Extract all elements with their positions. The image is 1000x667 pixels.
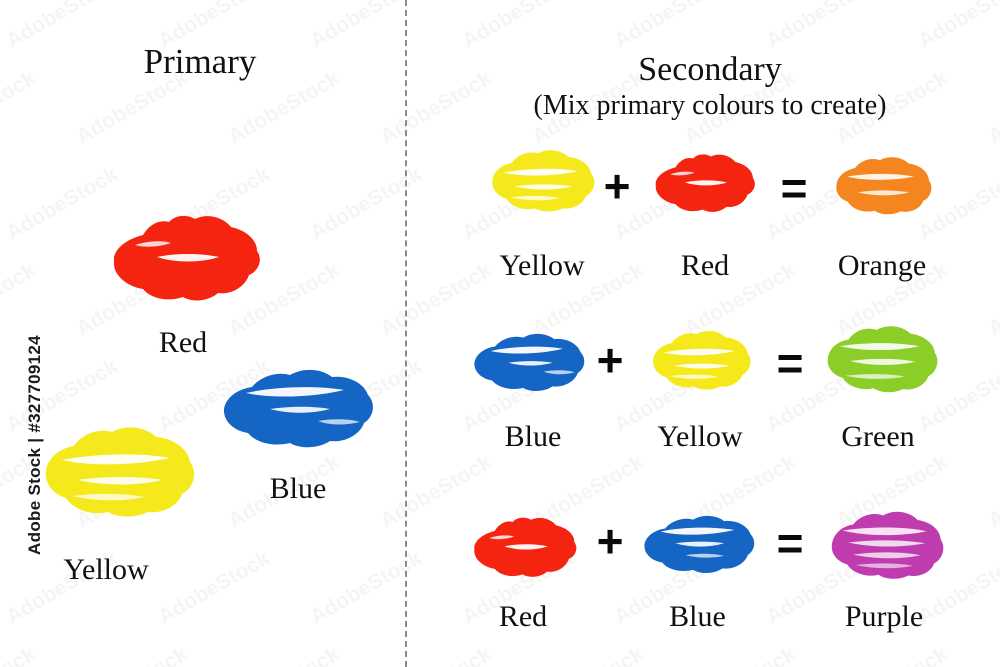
paint-stroke-red-icon <box>105 205 265 305</box>
watermark-text: AdobeStock <box>528 642 648 667</box>
mix-row-orange-label-b: Red <box>645 251 765 281</box>
mix-row-green-operand-b-swatch <box>648 316 753 402</box>
secondary-section-subtitle: (Mix primary colours to create) <box>420 90 1000 122</box>
primary-label-yellow: Yellow <box>26 555 186 585</box>
paint-stroke-blue-icon <box>640 508 758 580</box>
watermark-text: AdobeStock <box>224 642 344 667</box>
mix-row-green-result-swatch <box>822 314 940 402</box>
colour-mixing-poster: AdobeStockAdobeStockAdobeStockAdobeStock… <box>0 0 1000 667</box>
equals-operator-row-purple: = <box>768 520 812 566</box>
watermark-text: AdobeStock <box>832 642 952 667</box>
equals-operator-row-orange: = <box>772 165 816 211</box>
paint-stroke-red-icon <box>468 508 580 582</box>
watermark-text: AdobeStock <box>376 642 496 667</box>
primary-section-title: Primary <box>0 44 400 81</box>
adobe-stock-credit: Adobe Stock | #327709124 <box>25 325 45 565</box>
mix-row-green-label-b: Yellow <box>640 422 760 452</box>
primary-label-blue: Blue <box>218 474 378 504</box>
primary-swatch-blue <box>218 363 378 453</box>
paint-stroke-orange-icon <box>830 147 935 222</box>
paint-stroke-red-icon <box>648 147 760 215</box>
primary-swatch-yellow <box>38 420 198 520</box>
watermark-text: AdobeStock <box>680 642 800 667</box>
section-divider <box>405 0 407 667</box>
mix-row-purple-label-a: Red <box>468 602 578 632</box>
mix-row-green-operand-a-swatch <box>470 328 588 396</box>
mix-row-purple-operand-a-swatch <box>468 508 580 582</box>
mix-row-purple-result-swatch <box>826 503 946 585</box>
mix-row-purple-label-result: Purple <box>820 602 948 632</box>
paint-stroke-green-icon <box>822 314 940 402</box>
paint-stroke-blue-icon <box>470 328 588 396</box>
secondary-section-title: Secondary <box>420 52 1000 88</box>
mix-row-purple-label-b: Blue <box>640 602 755 632</box>
mix-row-orange-operand-b-swatch <box>648 147 760 215</box>
watermark-text: AdobeStock <box>72 642 192 667</box>
plus-operator-row-orange: + <box>595 163 639 209</box>
mix-row-orange-label-a: Yellow <box>482 251 602 281</box>
paint-stroke-yellow-icon <box>38 420 198 520</box>
paint-stroke-yellow-icon <box>487 142 597 217</box>
equals-operator-row-green: = <box>768 340 812 386</box>
mix-row-green-label-result: Green <box>818 422 938 452</box>
watermark-text: AdobeStock <box>610 0 730 54</box>
watermark-text: AdobeStock <box>306 162 426 245</box>
mix-row-orange-label-result: Orange <box>822 251 942 281</box>
watermark-text: AdobeStock <box>762 0 882 54</box>
mix-row-purple-operand-b-swatch <box>640 508 758 580</box>
primary-label-red: Red <box>103 328 263 358</box>
mix-row-orange-result-swatch <box>830 147 935 222</box>
plus-operator-row-green: + <box>588 337 632 383</box>
watermark-text: AdobeStock <box>0 642 40 667</box>
paint-stroke-purple-icon <box>826 503 946 585</box>
mix-row-green-label-a: Blue <box>473 422 593 452</box>
watermark-text: AdobeStock <box>984 642 1000 667</box>
paint-stroke-blue-icon <box>218 363 378 453</box>
plus-operator-row-purple: + <box>588 518 632 564</box>
watermark-text: AdobeStock <box>458 0 578 54</box>
watermark-text: AdobeStock <box>914 0 1000 54</box>
watermark-text: AdobeStock <box>984 450 1000 533</box>
primary-swatch-red <box>105 205 265 305</box>
watermark-text: AdobeStock <box>984 258 1000 341</box>
watermark-text: AdobeStock <box>306 546 426 629</box>
paint-stroke-yellow-icon <box>648 316 753 402</box>
mix-row-orange-operand-a-swatch <box>487 142 597 217</box>
